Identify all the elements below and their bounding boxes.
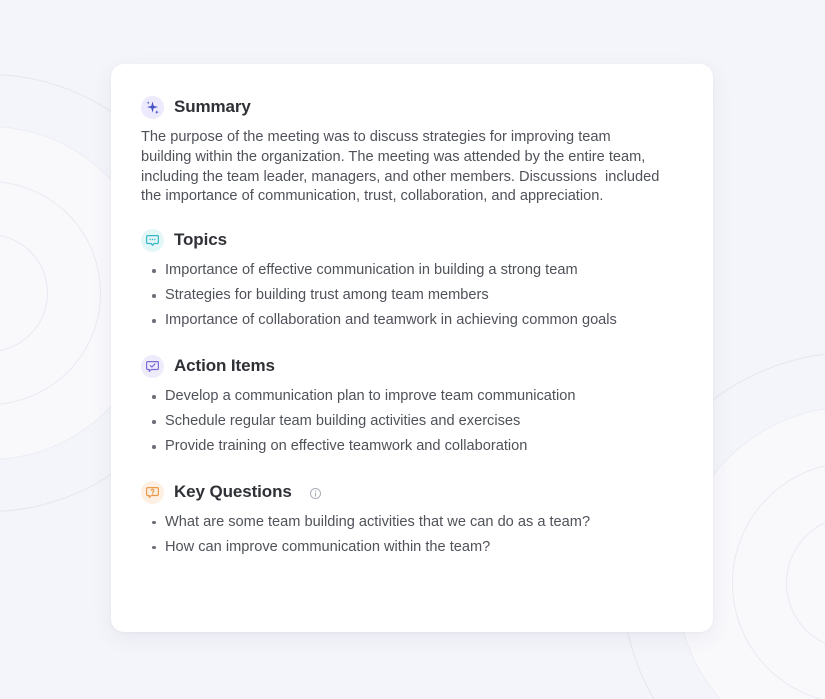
decorative-ring-left-4 [0,234,48,352]
list-item: How can improve communication within the… [141,538,683,558]
chat-question-icon [141,481,164,504]
section-action-items: Action Items Develop a communication pla… [141,355,683,457]
list-item: What are some team building activities t… [141,513,683,533]
action-items-list: Develop a communication plan to improve … [141,387,683,457]
sparkle-icon [141,96,164,119]
list-item: Importance of collaboration and teamwork… [141,311,683,331]
section-summary: Summary The purpose of the meeting was t… [141,96,683,207]
section-title-summary: Summary [174,97,251,117]
decorative-ring-left-3 [0,181,101,405]
section-header-action-items: Action Items [141,355,683,378]
key-questions-list: What are some team building activities t… [141,513,683,558]
section-key-questions: Key Questions What are some team buildin… [141,481,683,558]
topics-list: Importance of effective communication in… [141,261,683,331]
list-item: Importance of effective communication in… [141,261,683,281]
summary-paragraph: The purpose of the meeting was to discus… [141,128,665,207]
section-title-action-items: Action Items [174,356,275,376]
meeting-summary-card: Summary The purpose of the meeting was t… [111,64,713,632]
chat-check-icon [141,355,164,378]
section-header-summary: Summary [141,96,683,119]
decorative-ring-right-4 [786,516,825,650]
list-item: Schedule regular team building activitie… [141,412,683,432]
list-item: Provide training on effective teamwork a… [141,437,683,457]
list-item: Develop a communication plan to improve … [141,387,683,407]
section-title-key-questions: Key Questions [174,482,292,502]
section-title-topics: Topics [174,230,227,250]
decorative-ring-right-3 [732,462,825,699]
section-topics: Topics Importance of effective communica… [141,229,683,331]
section-header-key-questions: Key Questions [141,481,683,504]
chat-dots-icon [141,229,164,252]
info-circle-icon[interactable] [309,487,322,500]
list-item: Strategies for building trust among team… [141,286,683,306]
section-header-topics: Topics [141,229,683,252]
